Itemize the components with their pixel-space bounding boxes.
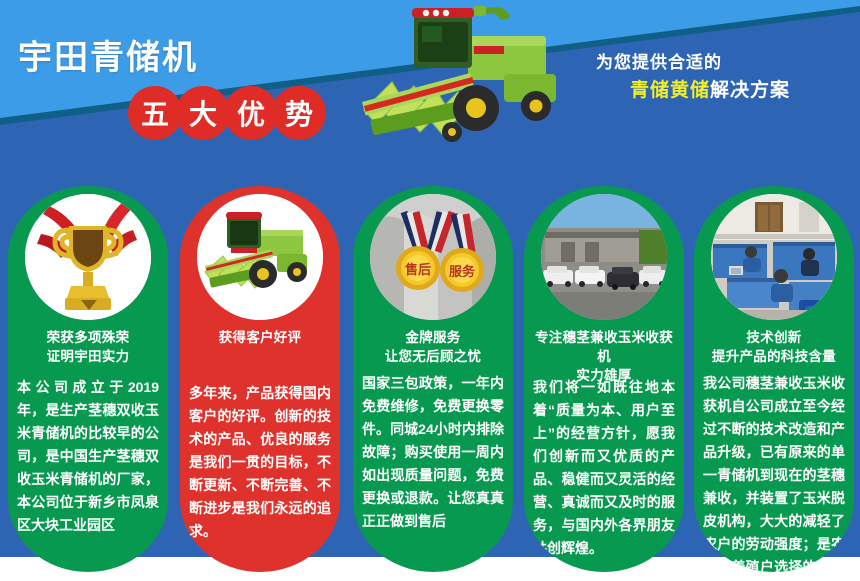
badge-char-3: 优: [224, 86, 278, 140]
card-3-title: 金牌服务 让您无后顾之忧: [359, 328, 507, 366]
card-3-body: 国家三包政策，一年内免费维修，免费更换零件。同城24小时内排除故障；购买使用一周…: [362, 372, 504, 533]
gold-trophy-icon: [25, 194, 151, 320]
card-2-title-line1: 获得客户好评: [186, 328, 334, 347]
card-5-title: 技术创新 提升产品的科技含量: [700, 328, 848, 366]
subtitle-rest: 解决方案: [710, 80, 790, 101]
green-harvester-icon: [197, 194, 323, 320]
advantage-card-5[interactable]: 技术创新 提升产品的科技含量 我公司穗茎兼收玉米收获机自公司成立至今经过不断的技…: [694, 186, 854, 572]
card-5-body: 我公司穗茎兼收玉米收获机自公司成立至今经过不断的技术改造和产品升级，已有原来的单…: [703, 372, 845, 572]
card-1-title-line2: 证明宇田实力: [14, 347, 162, 366]
card-1-title-line1: 荣获多项殊荣: [14, 328, 162, 347]
badge-char-4: 势: [272, 86, 326, 140]
five-advantages-badge: 五 大 优 势: [128, 86, 320, 140]
card-1-body: 本公司成立于2019年，是生产茎穗双收玉米青储机的比较早的公司，是中国生产茎穗双…: [17, 376, 159, 537]
page-title: 宇田青储机: [18, 36, 198, 80]
card-4-body: 我们将一如既往地本着“质量为本、用户至上”的经营方针，愿我们创新而又优质的产品、…: [533, 376, 675, 560]
subtitle-line-2: 青储黄储解决方案: [630, 76, 790, 106]
vehicle-fleet-icon: [541, 194, 667, 320]
advantage-card-3[interactable]: 售后 服务 金牌服务 让您无后顾之忧 国家三包政策，一年内免费维修，免费更换零件…: [353, 186, 513, 572]
badge-char-1: 五: [128, 86, 182, 140]
gold-medals-icon: 售后 服务: [370, 194, 496, 320]
badge-char-2: 大: [176, 86, 230, 140]
svg-text:售后: 售后: [405, 262, 431, 277]
subtitle-line-1: 为您提供合适的: [596, 50, 790, 76]
office-workstations-icon: [711, 194, 837, 320]
header-subtitle-block: 为您提供合适的 青储黄储解决方案: [596, 50, 790, 106]
advantage-card-1[interactable]: 荣获多项殊荣 证明宇田实力 本公司成立于2019年，是生产茎穗双收玉米青储机的比…: [8, 186, 168, 572]
card-3-title-line2: 让您无后顾之忧: [359, 347, 507, 366]
card-2-body: 多年来，产品获得国内客户的好评。创新的技术的产品、优良的服务是我们一贯的目标，不…: [189, 382, 331, 543]
svg-text:服务: 服务: [449, 264, 476, 279]
subtitle-highlight: 青储黄储: [630, 80, 710, 101]
card-2-title: 获得客户好评: [186, 328, 334, 347]
advantage-card-2[interactable]: 获得客户好评 多年来，产品获得国内客户的好评。创新的技术的产品、优良的服务是我们…: [180, 186, 340, 572]
card-5-title-line1: 技术创新: [700, 328, 848, 347]
harvester-illustration: [356, 2, 600, 162]
card-4-title-line1: 专注穗茎兼收玉米收获机: [530, 328, 678, 366]
card-1-title: 荣获多项殊荣 证明宇田实力: [14, 328, 162, 366]
card-3-title-line1: 金牌服务: [359, 328, 507, 347]
infographic-canvas: 宇田青储机 五 大 优 势 为您提供合适的 青储黄储解决方案: [0, 0, 860, 581]
card-5-title-line2: 提升产品的科技含量: [700, 347, 848, 366]
advantage-card-4[interactable]: 专注穗茎兼收玉米收获机 实力雄厚 我们将一如既往地本着“质量为本、用户至上”的经…: [524, 186, 684, 572]
